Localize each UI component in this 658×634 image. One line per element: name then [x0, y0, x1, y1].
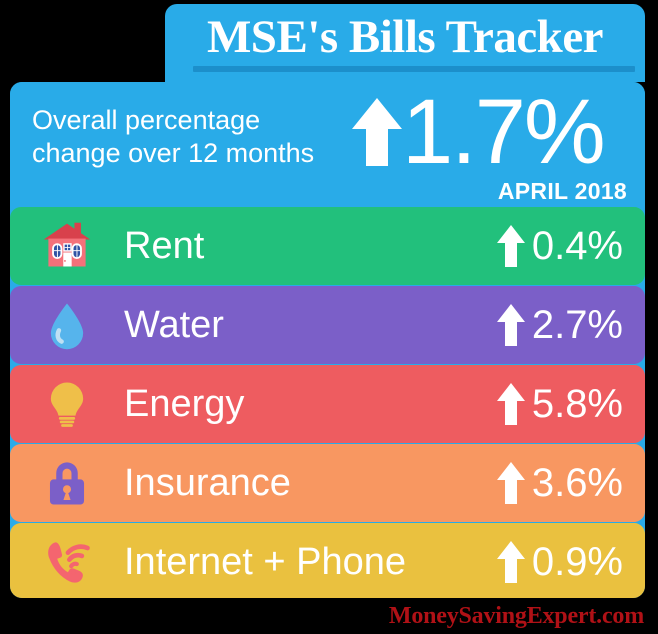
headline-date: APRIL 2018: [498, 178, 627, 205]
headline-value: 1.7%: [402, 86, 604, 178]
row-value-insurance: 3.6%: [532, 463, 623, 503]
lightbulb-icon: [38, 373, 96, 435]
row-insurance[interactable]: Insurance 3.6%: [10, 444, 645, 522]
headline-figure: 1.7%: [350, 84, 604, 180]
water-drop-icon: [38, 294, 96, 356]
arrow-up-icon: [496, 540, 526, 584]
title-underline-rule: [193, 66, 635, 72]
row-rent[interactable]: Rent 0.4%: [10, 207, 645, 285]
row-value-water: 2.7%: [532, 305, 623, 345]
row-internet-phone[interactable]: Internet + Phone 0.9%: [10, 523, 645, 598]
row-label-internet-phone: Internet + Phone: [124, 541, 496, 584]
headline-band: Overall percentage change over 12 months…: [10, 82, 645, 206]
arrow-up-icon: [496, 382, 526, 426]
padlock-icon: [38, 452, 96, 514]
row-figure-insurance: 3.6%: [496, 461, 623, 505]
row-value-internet-phone: 0.9%: [532, 542, 623, 582]
row-label-water: Water: [124, 304, 496, 347]
house-icon: [38, 215, 96, 277]
bills-tracker-infographic: MSE's Bills Tracker Overall percentage c…: [0, 0, 658, 634]
arrow-up-icon: [496, 224, 526, 268]
arrow-up-icon: [496, 303, 526, 347]
row-value-energy: 5.8%: [532, 384, 623, 424]
brand-footer: MoneySavingExpert.com: [0, 603, 644, 630]
row-value-rent: 0.4%: [532, 226, 623, 266]
tracker-card: Overall percentage change over 12 months…: [10, 82, 645, 598]
arrow-up-icon: [350, 96, 404, 168]
row-label-rent: Rent: [124, 225, 496, 268]
headline-label: Overall percentage change over 12 months: [32, 104, 352, 170]
title-panel: MSE's Bills Tracker: [165, 4, 645, 82]
row-figure-water: 2.7%: [496, 303, 623, 347]
page-title: MSE's Bills Tracker: [165, 6, 645, 68]
row-figure-internet-phone: 0.9%: [496, 540, 623, 584]
row-figure-energy: 5.8%: [496, 382, 623, 426]
row-energy[interactable]: Energy 5.8%: [10, 365, 645, 443]
arrow-up-icon: [496, 461, 526, 505]
row-figure-rent: 0.4%: [496, 224, 623, 268]
row-label-insurance: Insurance: [124, 462, 496, 505]
phone-wifi-icon: [38, 531, 96, 593]
row-water[interactable]: Water 2.7%: [10, 286, 645, 364]
row-label-energy: Energy: [124, 383, 496, 426]
